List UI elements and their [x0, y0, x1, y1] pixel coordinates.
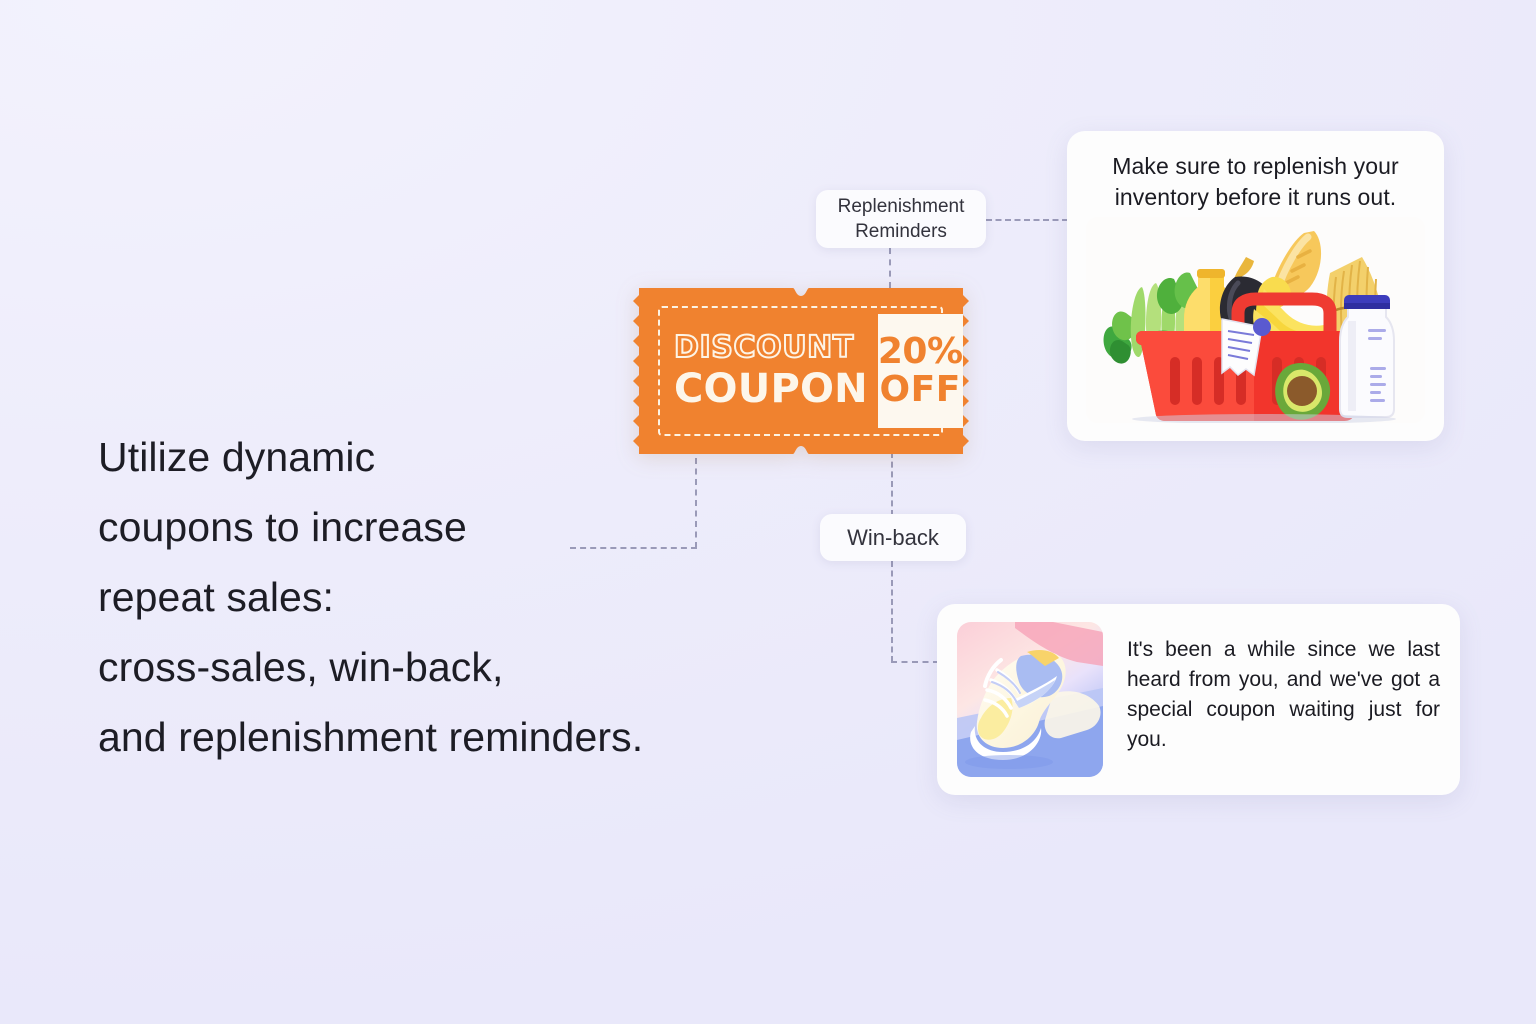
- headline-line-2: coupons to increase: [98, 492, 818, 562]
- connector-coupon-to-chip-winback: [891, 452, 893, 516]
- connector-chip-winback-to-card-vertical: [891, 561, 893, 662]
- discount-coupon-graphic[interactable]: DISCOUNT COUPON 20% OFF: [631, 282, 971, 460]
- headline-line-5: and replenishment reminders.: [98, 702, 818, 772]
- connector-coupon-to-headline-horizontal: [570, 547, 697, 549]
- headline-line-3: repeat sales:: [98, 562, 818, 632]
- node-label-win-back[interactable]: Win-back: [820, 514, 966, 561]
- card-win-back-body: It's been a while since we last heard fr…: [1127, 622, 1440, 777]
- chip-replenishment-text: Replenishment Reminders: [838, 194, 965, 244]
- sneaker-thumbnail: [957, 622, 1103, 777]
- chip-winback-text: Win-back: [847, 525, 939, 551]
- page-title: Utilize dynamic coupons to increase repe…: [98, 422, 818, 772]
- coupon-badge-off: OFF: [880, 371, 961, 409]
- coupon-discount-badge: 20% OFF: [878, 314, 963, 428]
- connector-coupon-to-headline-vertical: [695, 458, 697, 548]
- grocery-basket-illustration-icon: [1086, 217, 1425, 423]
- connector-chip-winback-to-card-horizontal: [891, 661, 939, 663]
- coupon-word-coupon: COUPON: [674, 367, 868, 411]
- coupon-dashed-border: DISCOUNT COUPON 20% OFF: [658, 306, 943, 436]
- coupon-badge-percent: 20%: [878, 333, 963, 371]
- card-replenishment-title: Make sure to replenish your inventory be…: [1089, 151, 1422, 213]
- coupon-word-discount: DISCOUNT: [674, 331, 868, 365]
- infographic-canvas: Utilize dynamic coupons to increase repe…: [0, 0, 1536, 1024]
- card-replenishment-reminder[interactable]: Make sure to replenish your inventory be…: [1067, 131, 1444, 441]
- connector-chip-replenish-to-card: [986, 219, 1068, 221]
- card-win-back-message[interactable]: It's been a while since we last heard fr…: [937, 604, 1460, 795]
- headline-line-4: cross-sales, win-back,: [98, 632, 818, 702]
- coupon-wordmark: DISCOUNT COUPON: [660, 331, 868, 411]
- chip-replenishment-line-1: Replenishment: [838, 196, 965, 217]
- sneaker-photo-icon: [957, 622, 1103, 777]
- node-label-replenishment-reminders[interactable]: Replenishment Reminders: [816, 190, 986, 248]
- chip-replenishment-line-2: Reminders: [855, 221, 947, 242]
- grocery-basket-image: [1086, 217, 1425, 423]
